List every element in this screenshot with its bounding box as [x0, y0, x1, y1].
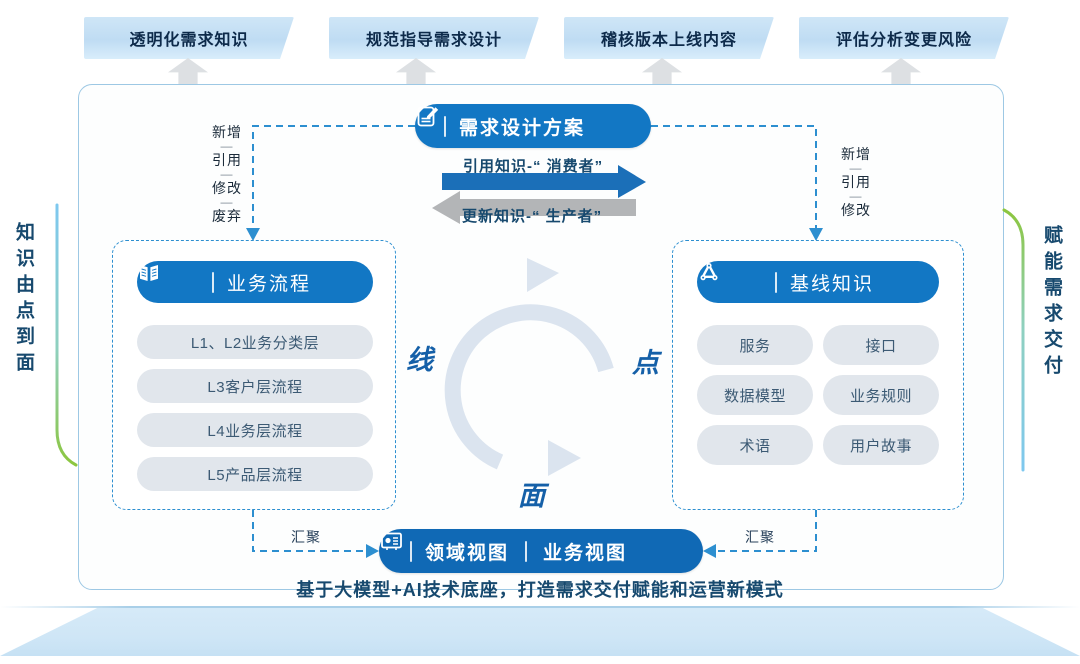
baseline-knowledge-item-1[interactable]: 接口	[823, 325, 939, 365]
stack-dash: —	[200, 169, 254, 180]
stack-dash: —	[200, 141, 254, 152]
left-action-stack: 新增 — 引用 — 修改 — 废弃	[200, 124, 254, 225]
stack-dash: —	[829, 191, 883, 202]
book-flow-icon-svg	[137, 261, 161, 285]
base-divider	[0, 606, 1080, 608]
business-process-title: 业务流程	[227, 269, 311, 296]
baseline-knowledge-item-0[interactable]: 服务	[697, 325, 813, 365]
baseline-knowledge-title: 基线知识	[790, 269, 874, 296]
converge-right-label: 汇聚	[745, 527, 775, 547]
caption-emphasis: 大模型	[334, 580, 391, 600]
baseline-knowledge-item-2-label: 数据模型	[724, 385, 786, 406]
left-action-item-3: 废弃	[200, 208, 254, 225]
baseline-knowledge-header[interactable]: 基线知识	[697, 261, 939, 303]
base-trapezoid	[0, 608, 1080, 656]
baseline-knowledge-item-1-label: 接口	[865, 335, 896, 356]
caption-suffix: +AI技术底座，打造需求交付赋能和运营新模式	[391, 580, 784, 600]
pill-divider	[775, 272, 777, 293]
consumer-flow-label: 引用知识-“ 消费者”	[463, 155, 603, 176]
right-action-item-2: 修改	[829, 202, 883, 219]
caption-prefix: 基于	[296, 580, 334, 600]
baseline-knowledge-item-5-label: 用户故事	[850, 435, 912, 456]
baseline-knowledge-item-2[interactable]: 数据模型	[697, 375, 813, 415]
business-process-item-2-label: L4业务层流程	[207, 420, 302, 441]
business-process-item-1[interactable]: L3客户层流程	[137, 369, 373, 403]
diagram-canvas: 透明化需求知识 规范指导需求设计 稽核版本上线内容 评估分析变更风险	[0, 0, 1080, 664]
business-process-item-3[interactable]: L5产品层流程	[137, 457, 373, 491]
baseline-knowledge-item-0-label: 服务	[739, 335, 770, 356]
converge-left-label: 汇聚	[291, 527, 321, 547]
business-process-item-1-label: L3客户层流程	[207, 376, 302, 397]
stack-dash: —	[200, 197, 254, 208]
baseline-knowledge-item-5[interactable]: 用户故事	[823, 425, 939, 465]
view-pill[interactable]: 领域视图 业务视图	[379, 529, 703, 573]
business-process-item-0[interactable]: L1、L2业务分类层	[137, 325, 373, 359]
pill-divider	[525, 541, 527, 562]
business-process-panel: 业务流程 L1、L2业务分类层 L3客户层流程 L4业务层流程 L5产品层流程	[112, 240, 396, 510]
pill-divider	[410, 541, 412, 562]
business-process-item-2[interactable]: L4业务层流程	[137, 413, 373, 447]
view-pill-label-2: 业务视图	[543, 538, 627, 565]
baseline-knowledge-item-4[interactable]: 术语	[697, 425, 813, 465]
pill-divider	[212, 272, 214, 293]
baseline-knowledge-item-3-label: 业务规则	[850, 385, 912, 406]
business-process-item-3-label: L5产品层流程	[207, 464, 302, 485]
recycle-node-icon-svg	[697, 261, 721, 285]
producer-flow-label: 更新知识-“ 生产者”	[462, 205, 602, 226]
right-action-stack: 新增 — 引用 — 修改	[829, 146, 883, 219]
baseline-knowledge-panel: 基线知识 服务 接口 数据模型 业务规则 术语 用户故事	[672, 240, 964, 510]
business-process-header[interactable]: 业务流程	[137, 261, 373, 303]
stack-dash: —	[829, 163, 883, 174]
baseline-knowledge-item-3[interactable]: 业务规则	[823, 375, 939, 415]
baseline-knowledge-item-4-label: 术语	[739, 435, 770, 456]
bottom-caption: 基于大模型+AI技术底座，打造需求交付赋能和运营新模式	[0, 576, 1080, 602]
view-card-icon-svg	[379, 529, 404, 554]
view-pill-label-1: 领域视图	[425, 538, 509, 565]
business-process-item-0-label: L1、L2业务分类层	[191, 332, 319, 353]
